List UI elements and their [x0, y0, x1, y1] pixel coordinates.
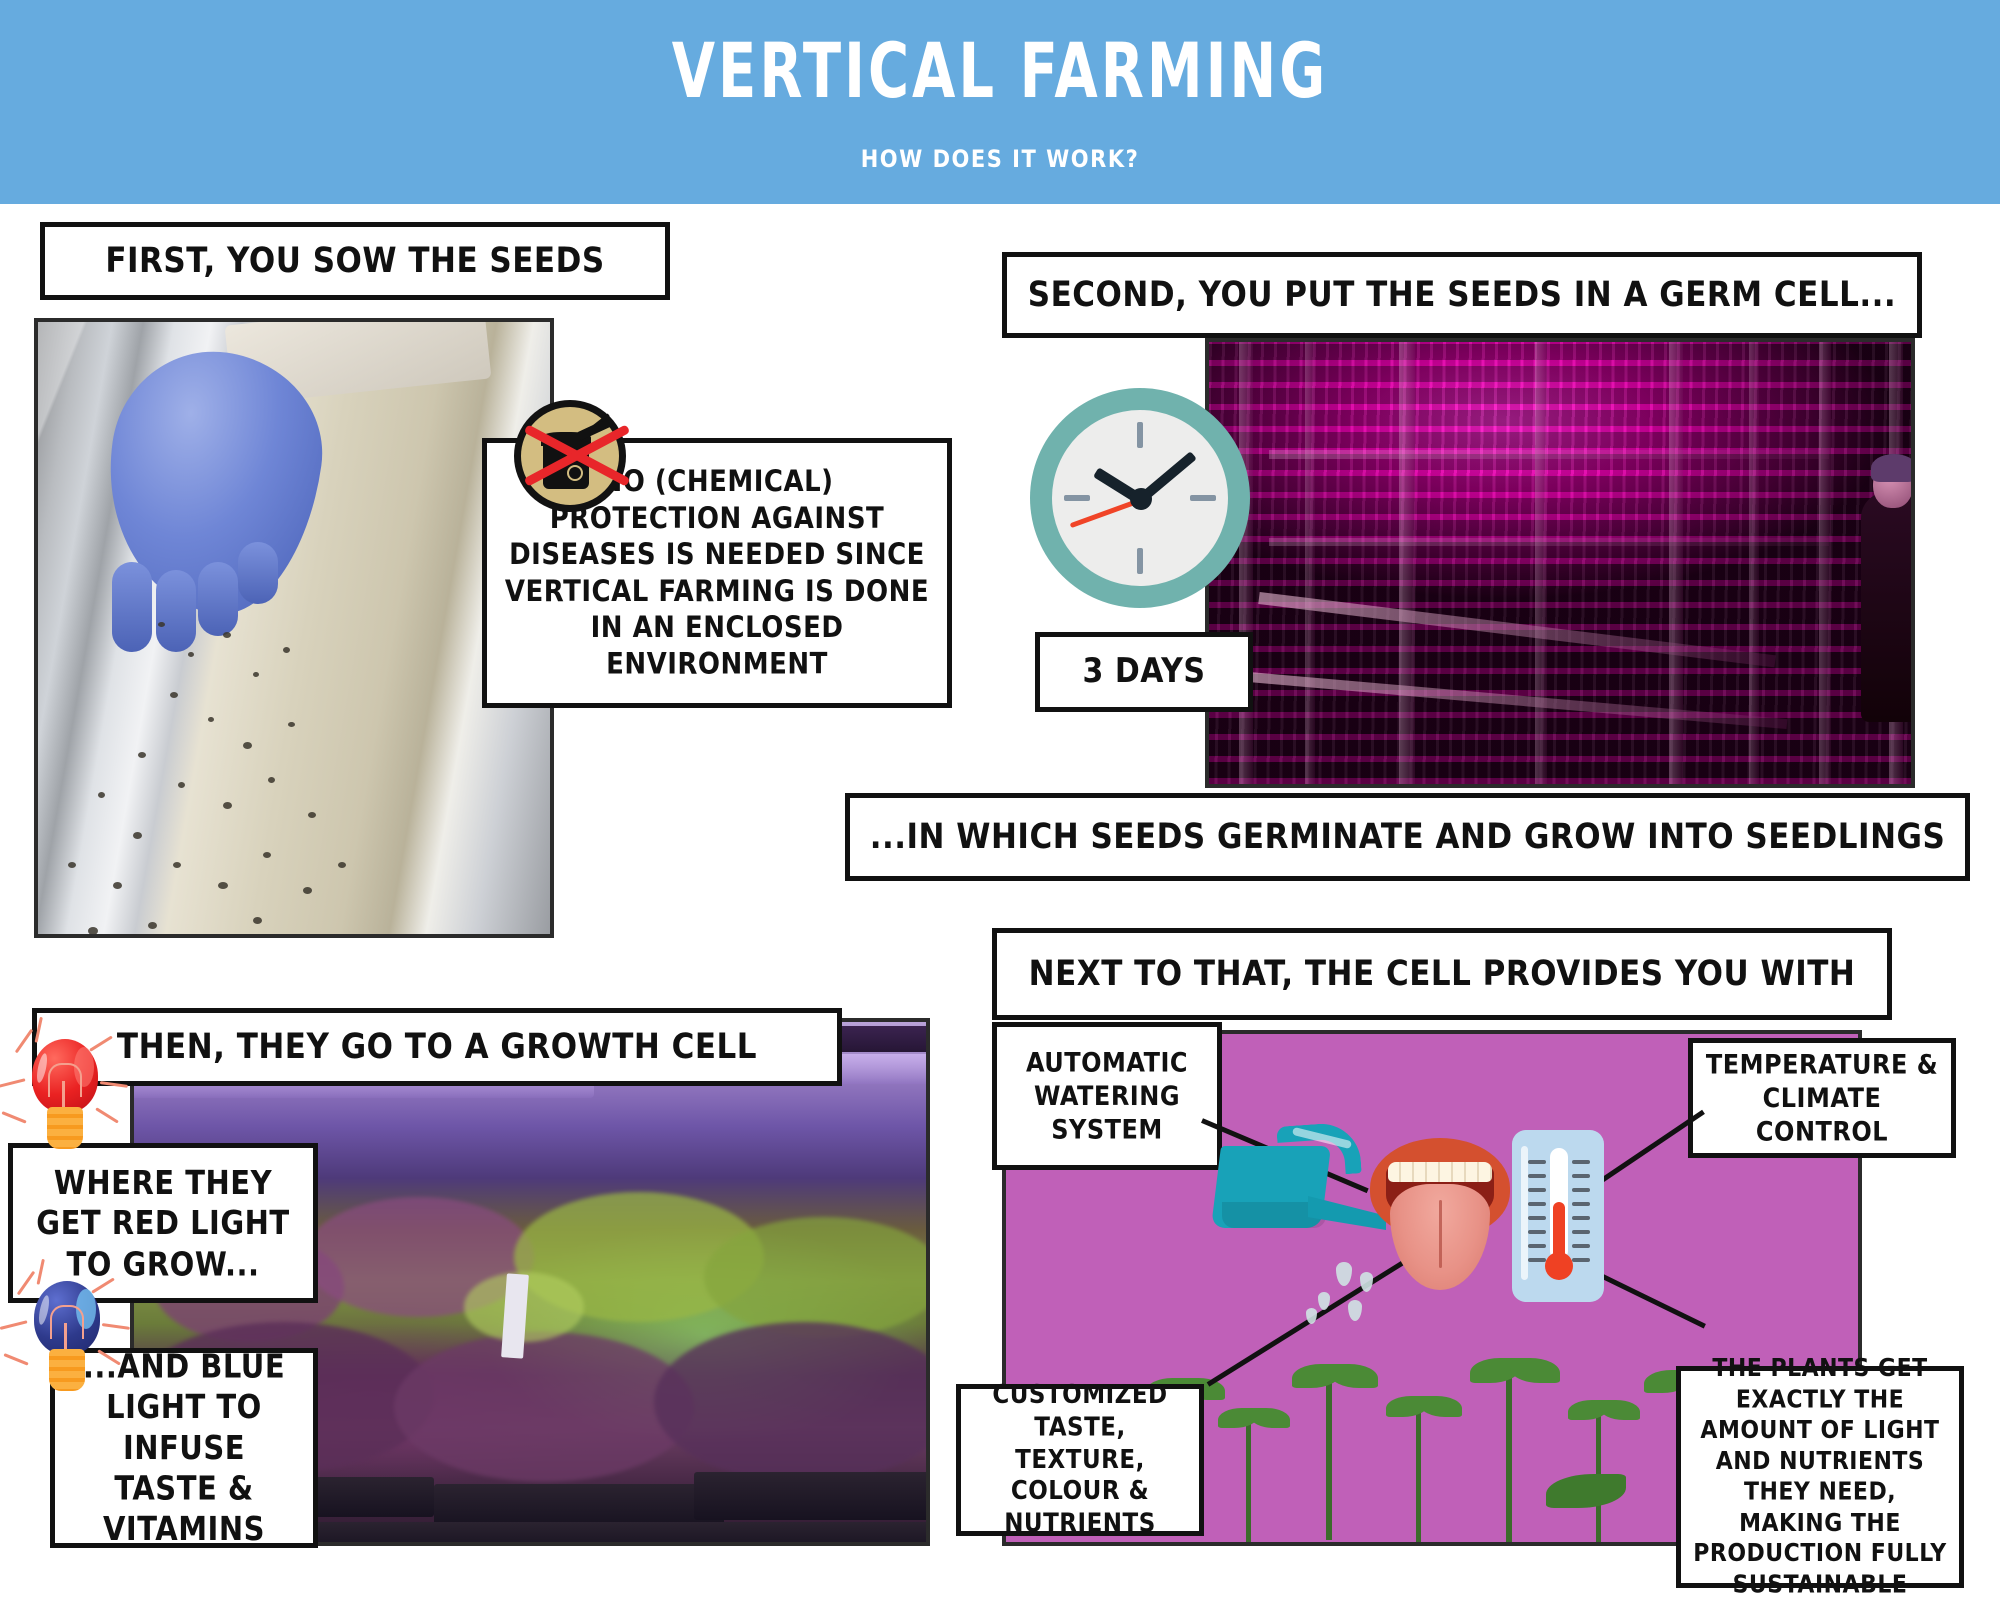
blue-lightbulb-icon: [12, 1275, 120, 1407]
caption-step-1: FIRST, YOU SOW THE SEEDS: [40, 222, 670, 300]
caption-step-3: THEN, THEY GO TO A GROWTH CELL: [32, 1008, 842, 1086]
page-subtitle: HOW DOES IT WORK?: [0, 145, 2000, 173]
callout-sustainable-production: THE PLANTS GET EXACTLY THE AMOUNT OF LIG…: [1676, 1366, 1964, 1588]
infographic-canvas: VERTICAL FARMING HOW DOES IT WORK?: [0, 0, 2000, 1600]
gloved-hand-graphic: [78, 318, 378, 632]
caption-germination: ...IN WHICH SEEDS GERMINATE AND GROW INT…: [845, 793, 1970, 881]
callout-climate-control: TEMPERATURE & CLIMATE CONTROL: [1688, 1038, 1956, 1158]
caption-step-2: SECOND, YOU PUT THE SEEDS IN A GERM CELL…: [1002, 252, 1922, 338]
photo-sowing-seeds: [34, 318, 554, 938]
caption-step-4: NEXT TO THAT, THE CELL PROVIDES YOU WITH: [992, 928, 1892, 1020]
badge-duration-3-days: 3 DAYS: [1035, 632, 1253, 712]
no-chemicals-icon: [514, 400, 626, 512]
photo-germ-cell: [1205, 338, 1915, 788]
clock-icon: [1030, 388, 1250, 608]
tongue-taste-icon: [1370, 1138, 1510, 1298]
header-band: VERTICAL FARMING HOW DOES IT WORK?: [0, 0, 2000, 204]
page-title: VERTICAL FARMING: [0, 28, 2000, 116]
callout-automatic-watering: AUTOMATIC WATERING SYSTEM: [992, 1022, 1222, 1170]
thermometer-icon: [1512, 1130, 1604, 1302]
red-lightbulb-icon: [10, 1033, 118, 1165]
callout-customized-taste: CUSTOMIZED TASTE, TEXTURE, COLOUR & NUTR…: [956, 1384, 1204, 1536]
